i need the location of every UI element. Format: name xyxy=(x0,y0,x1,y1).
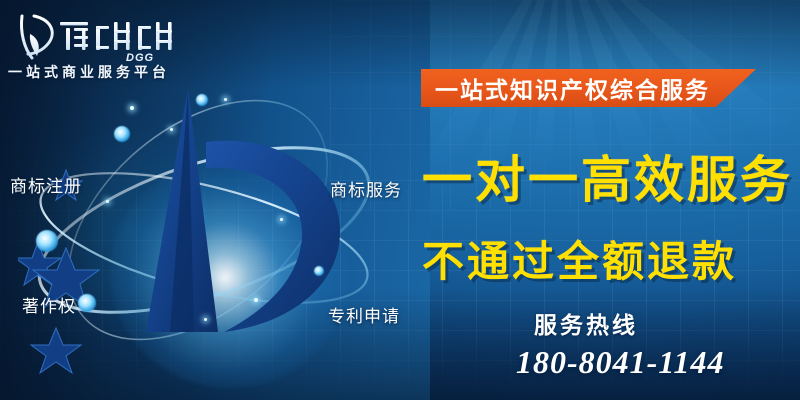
callout-trademark-service: 商标服务 xyxy=(330,176,402,201)
sparkle-icon xyxy=(280,218,283,221)
light-orb xyxy=(196,94,208,106)
sparkle-icon xyxy=(224,98,227,101)
promo-subline: 不通过全额退款 xyxy=(422,228,782,289)
banner-advertisement: DGG 一站式商业服务平台 商标注册 商标服务 著作权 专利申请 一站式知识产权… xyxy=(0,0,800,400)
hotline-label: 服务热线 xyxy=(534,306,638,340)
callout-copyright: 著作权 xyxy=(22,292,76,317)
callout-trademark-registration: 商标注册 xyxy=(10,172,82,197)
light-orb xyxy=(314,266,324,276)
sparkle-icon xyxy=(204,318,207,321)
light-orb xyxy=(78,294,96,312)
promo-ribbon-text: 一站式知识产权综合服务 xyxy=(435,71,710,105)
sparkle-icon xyxy=(170,128,173,131)
brand-tagline: 一站式商业服务平台 xyxy=(8,62,170,82)
sparkle-icon xyxy=(106,200,109,203)
monument-orbit-emblem-icon xyxy=(18,70,388,390)
promo-ribbon-banner: 一站式知识产权综合服务 xyxy=(421,69,756,107)
promo-headline: 一对一高效服务 xyxy=(422,140,782,212)
sparkle-icon xyxy=(130,106,134,110)
light-orb xyxy=(36,230,58,252)
callout-patent-application: 专利申请 xyxy=(328,302,400,327)
sparkle-icon xyxy=(254,298,258,302)
light-orb xyxy=(114,126,130,142)
hotline-number[interactable]: 180-8041-1144 xyxy=(516,344,725,381)
